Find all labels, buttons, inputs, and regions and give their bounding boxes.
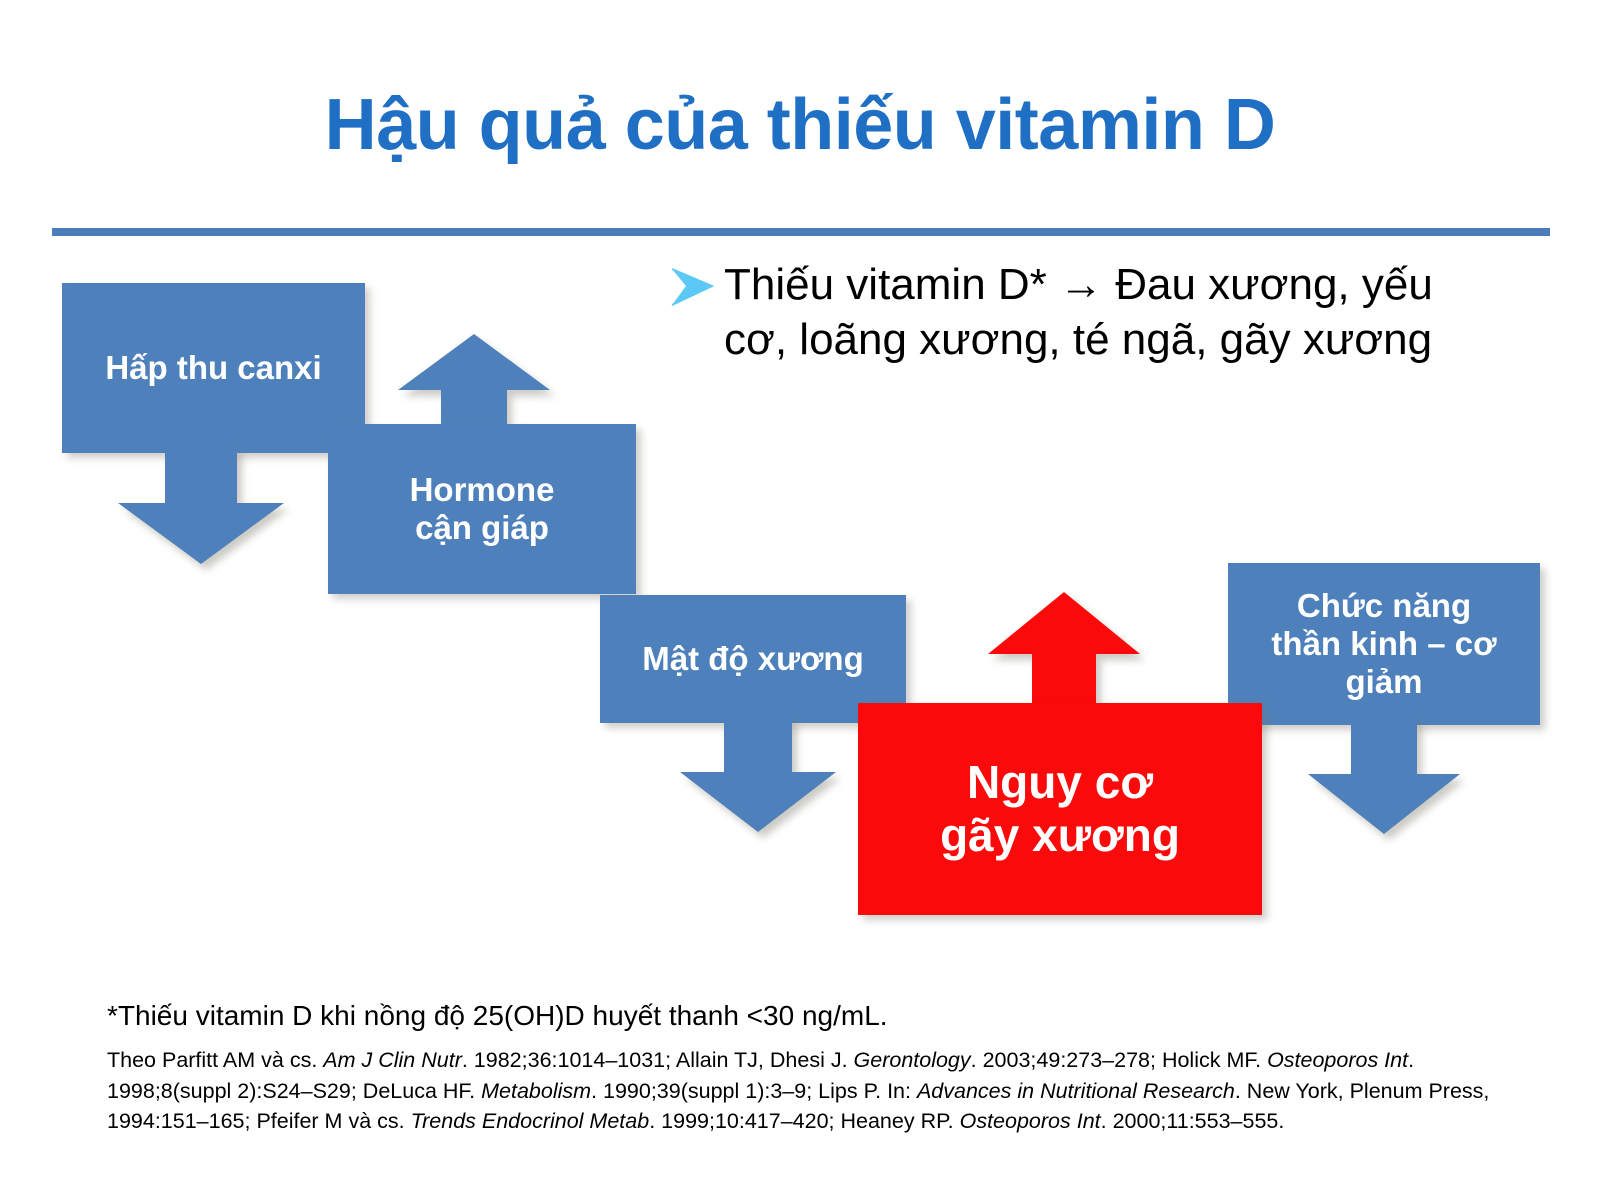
ref-journal: Am J Clin Nutr	[323, 1048, 462, 1072]
flow-box-fracture-risk: Nguy cơ gãy xương	[858, 703, 1262, 915]
ref-seg: . 1999;10:417–420; Heaney RP.	[649, 1109, 959, 1133]
ref-seg: . 1982;36:1014–1031; Allain TJ, Dhesi J.	[462, 1048, 854, 1072]
slide: Hậu quả của thiếu vitamin D Thiếu vitami…	[0, 0, 1600, 1200]
flow-box-pth: Hormone cận giáp	[328, 424, 636, 594]
ref-journal: Metabolism	[481, 1079, 591, 1103]
page-title: Hậu quả của thiếu vitamin D	[0, 88, 1600, 164]
flow-box-fracture-risk-label: Nguy cơ gãy xương	[940, 756, 1180, 862]
arrow-bullet-icon	[668, 258, 724, 313]
flow-box-neuro: Chức năng thần kinh – cơ giảm	[1228, 563, 1540, 725]
flow-box-calcium-label: Hấp thu canxi	[105, 349, 321, 387]
ref-journal: Gerontology	[854, 1048, 971, 1072]
ref-seg: . 2000;11:553–555.	[1101, 1109, 1285, 1133]
ref-seg: Theo Parfitt AM và cs.	[107, 1048, 323, 1072]
bullet-item: Thiếu vitamin D* → Đau xương, yếu cơ, lo…	[668, 258, 1468, 367]
flow-box-neuro-label: Chức năng thần kinh – cơ giảm	[1271, 587, 1496, 701]
flow-box-pth-label: Hormone cận giáp	[410, 471, 555, 547]
arrow-down-neuro-icon	[1308, 718, 1460, 834]
flow-box-bmd-label: Mật độ xương	[642, 640, 864, 678]
title-divider	[52, 228, 1550, 236]
ref-seg: . 2003;49:273–278; Holick MF.	[971, 1048, 1267, 1072]
references: Theo Parfitt AM và cs. Am J Clin Nutr. 1…	[107, 1045, 1497, 1137]
flow-box-calcium: Hấp thu canxi	[62, 283, 365, 453]
ref-journal: Osteoporos Int	[1267, 1048, 1408, 1072]
ref-journal: Trends Endocrinol Metab	[411, 1109, 650, 1133]
arrow-down-bmd-icon	[680, 716, 836, 832]
arrow-down-calcium-icon	[118, 447, 284, 564]
bullet-text: Thiếu vitamin D* → Đau xương, yếu cơ, lo…	[724, 258, 1468, 367]
ref-journal: Osteoporos Int	[960, 1109, 1101, 1133]
footnote: *Thiếu vitamin D khi nồng độ 25(OH)D huy…	[107, 1000, 888, 1032]
ref-journal: Advances in Nutritional Research	[917, 1079, 1235, 1103]
ref-seg: . 1990;39(suppl 1):3–9; Lips P. In:	[591, 1079, 917, 1103]
